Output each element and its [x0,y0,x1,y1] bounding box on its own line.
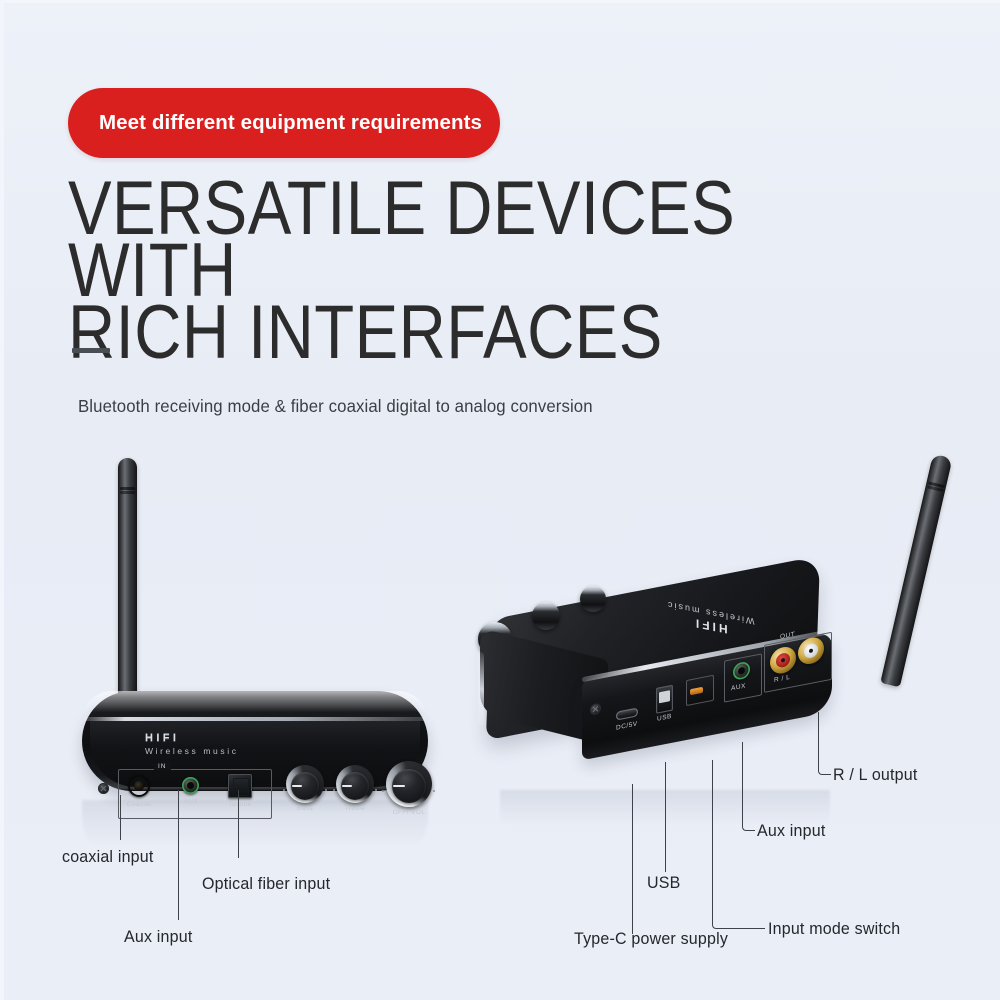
callout-optical-fiber-input: Optical fiber input [202,875,330,894]
treble-knob-label: Treble [335,805,375,812]
callout-right-aux-input: Aux input [757,822,825,841]
callout-line-aux [178,790,179,920]
volume-knob[interactable] [386,761,432,807]
volume-knob-label: OFF/ VOL [380,809,438,816]
callout-line-usb [665,762,666,872]
bass-knob-label: Bass [285,805,325,812]
right-bass-knob[interactable] [580,586,606,612]
dc-5v-port-label: DC/5V [616,720,638,731]
volume-knob-max-dot [433,790,435,792]
coaxial-port-label: Coaxial [118,801,160,808]
usb-port-label: USB [657,713,672,723]
input-group-label: IN [154,763,171,770]
left-antenna [118,458,137,696]
badge-label: Meet different equipment requirements [68,111,482,135]
left-device-front-panel: HIFI Wireless music IN Coaxial AUX Tosli… [90,721,420,787]
volume-knob-min-dot [382,790,384,792]
right-treble-knob[interactable] [532,602,560,630]
input-mode-switch[interactable] [686,675,714,706]
callout-line-optical [238,790,239,858]
callout-aux-input: Aux input [124,928,192,947]
bass-knob-min-dot [283,789,285,791]
callout-line-type-c [632,784,633,934]
page-subtitle: Bluetooth receiving mode & fiber coaxial… [78,396,593,417]
left-screw-left [98,783,109,794]
right-screw [590,703,601,716]
callout-usb: USB [647,874,680,893]
callout-line-input-mode-switch [712,760,765,929]
usb-port[interactable] [656,685,673,714]
callout-rl-output: R / L output [833,766,917,785]
bass-knob-indicator [292,785,302,787]
page-title: VERSATILE DEVICES WITH RICH INTERFACES [68,178,842,364]
callout-type-c-power-supply: Type-C power supply [574,930,728,949]
title-divider [72,348,110,353]
aux-port[interactable] [182,777,199,794]
treble-knob-min-dot [333,789,335,791]
callout-coaxial-input: coaxial input [62,848,153,867]
callout-input-mode-switch: Input mode switch [768,920,900,939]
bass-knob[interactable] [286,765,324,803]
callout-line-rl-output [818,712,831,775]
left-edge-highlight [0,0,4,1000]
left-brand-hifi: HIFI [145,732,179,744]
left-device: HIFI Wireless music IN Coaxial AUX Tosli… [70,683,440,803]
callout-line-aux-input [742,742,755,831]
coaxial-port[interactable] [128,775,150,797]
right-device-side-chrome [478,651,484,726]
left-brand-subtitle: Wireless music [145,746,239,756]
treble-knob-max-dot [375,789,377,791]
bass-knob-max-dot [325,789,327,791]
callout-line-coaxial [120,795,121,840]
treble-knob[interactable] [336,765,374,803]
input-mode-switch-slider[interactable] [690,687,703,696]
toslink-port[interactable] [228,774,252,798]
treble-knob-indicator [342,785,352,787]
top-edge-highlight [0,0,1000,3]
dc-5v-port[interactable] [616,707,638,720]
toslink-port-label: Toslink [218,801,262,808]
badge-pill: Meet different equipment requirements [68,88,500,158]
